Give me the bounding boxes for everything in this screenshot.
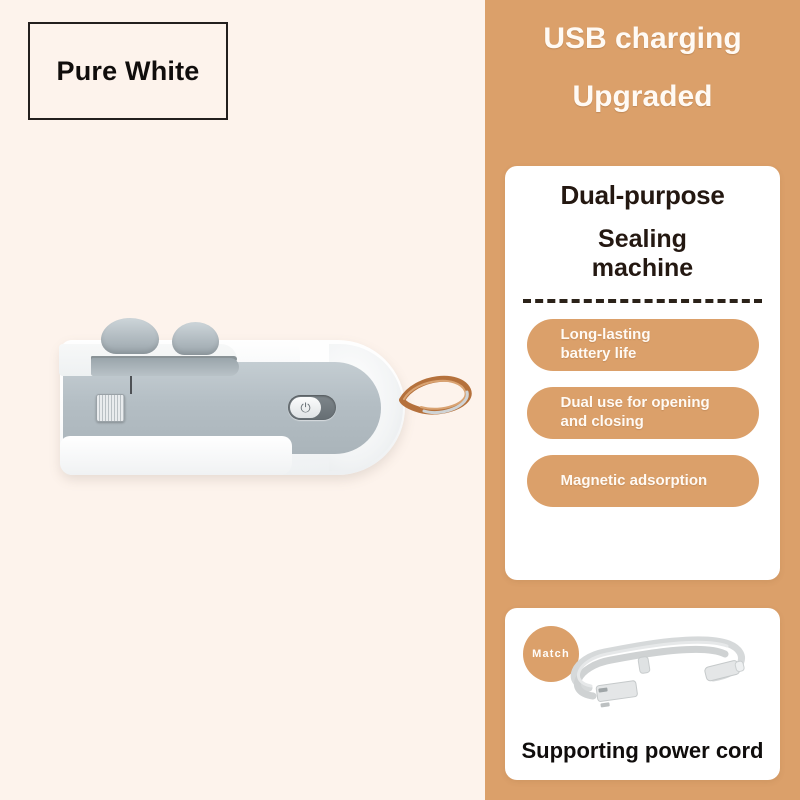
top-button-large[interactable] [101,318,159,354]
feature-pill-magnetic-line1: Magnetic adsorption [561,472,708,491]
leather-strap-loop [398,370,474,418]
power-switch[interactable]: ⏻ [288,395,336,420]
feature-title-main: Dual-purpose [521,180,764,211]
device-slot-lower-lip [91,358,239,376]
power-icon: ⏻ [290,397,321,418]
feature-title-sub-line1: Sealing [521,225,764,254]
top-button-small[interactable] [172,322,219,355]
feature-title-sub-line2: machine [521,254,764,283]
feature-pill-battery-line2: battery life [561,345,651,364]
device-lower-jaw [60,436,292,475]
feature-card: Dual-purpose Sealing machine Long-lastin… [505,166,780,580]
panel-headline-upgraded: Upgraded [485,80,800,114]
cable-caption: Supporting power cord [505,738,780,764]
feature-pill-magnetic[interactable]: Magnetic adsorption [527,455,759,507]
feature-pill-dual-use-line1: Dual use for opening [561,394,710,413]
usb-cable-image [553,622,773,726]
info-panel: USB charging Upgraded Dual-purpose Seali… [485,0,800,800]
dashed-divider [523,299,762,303]
feature-pill-battery-line1: Long-lasting [561,326,651,345]
cable-card: Match [505,608,780,780]
knurled-knob [96,394,125,422]
product-stage: Pure White ⏻ [0,0,485,800]
feature-pill-battery[interactable]: Long-lasting battery life [527,319,759,371]
panel-headline-usb-charging: USB charging [485,22,800,56]
feature-pill-dual-use[interactable]: Dual use for opening and closing [527,387,759,439]
color-variant-box[interactable]: Pure White [28,22,228,120]
product-image-mini-sealer: ⏻ [55,318,470,493]
feature-pill-dual-use-line2: and closing [561,413,710,432]
color-variant-label: Pure White [56,56,199,87]
feature-title-sub: Sealing machine [521,225,764,283]
cutter-blade-icon [130,376,132,394]
